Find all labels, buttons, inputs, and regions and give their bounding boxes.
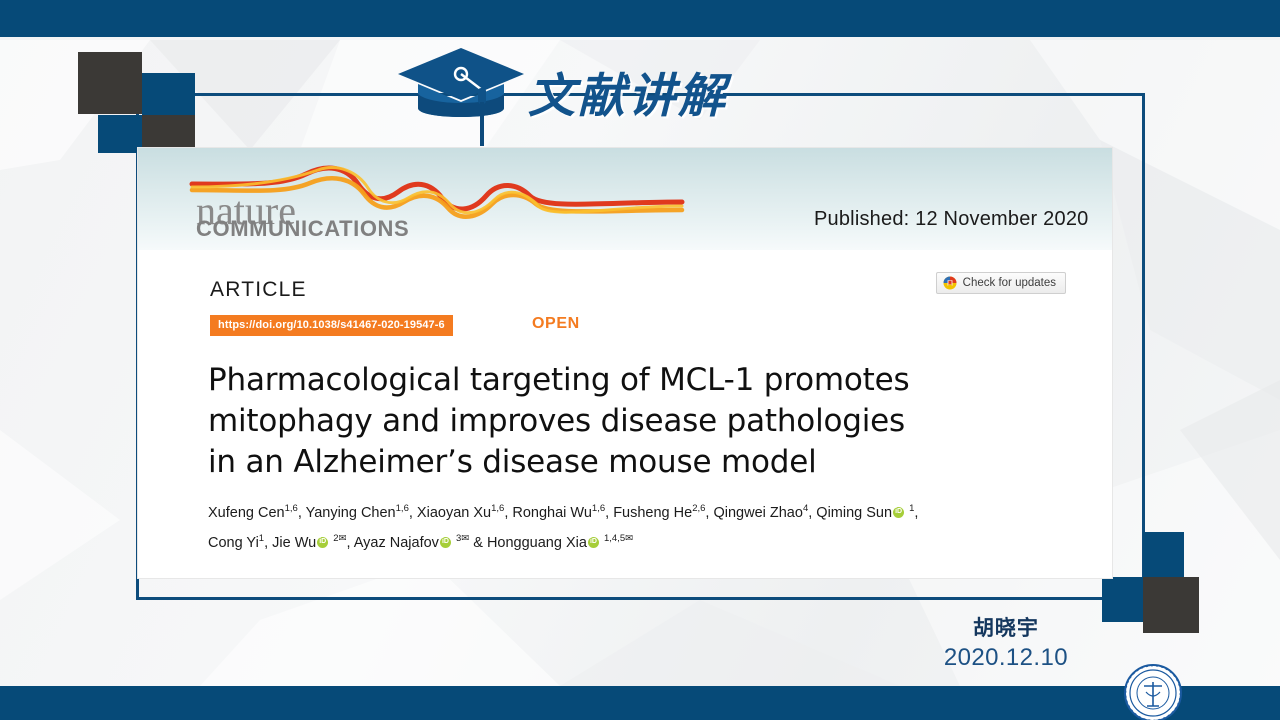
doi-link[interactable]: https://doi.org/10.1038/s41467-020-19547… <box>210 315 453 336</box>
published-date: Published: 12 November 2020 <box>814 208 1088 231</box>
author-name: Ayaz Najafov <box>354 535 439 551</box>
author-name: Jie Wu <box>272 535 316 551</box>
nature-communications-logo: nature COMMUNICATIONS <box>186 156 686 236</box>
author-list: Xufeng Cen1,6, Yanying Chen1,6, Xiaoyan … <box>208 496 1088 556</box>
author-name: Qingwei Zhao <box>713 505 802 521</box>
open-access-label: OPEN <box>532 315 580 333</box>
crossmark-icon <box>943 276 957 290</box>
bottom-accent-bar <box>0 686 1280 720</box>
article-title: Pharmacological targeting of MCL-1 promo… <box>208 360 1038 483</box>
author-affiliation-sup: 1,4,5✉ <box>604 533 633 544</box>
author-name: Yanying Chen <box>306 505 396 521</box>
check-for-updates-label: Check for updates <box>963 277 1056 289</box>
orcid-icon[interactable] <box>317 537 328 548</box>
article-title-line: mitophagy and improves disease pathologi… <box>208 401 1038 442</box>
author-name: Xufeng Cen <box>208 505 285 521</box>
author-affiliation-sup: 1,6 <box>396 503 409 514</box>
top-accent-bar <box>0 0 1280 37</box>
page-title: 文献讲解 <box>528 57 728 126</box>
presenter-name: 胡晓宇 <box>944 612 1068 642</box>
orcid-icon[interactable] <box>893 507 904 518</box>
author-affiliation-sup: 1 <box>259 533 264 544</box>
decor-square-dark-1 <box>78 52 142 114</box>
presentation-date: 2020.12.10 <box>944 644 1068 672</box>
paper-card: nature COMMUNICATIONS Published: 12 Nove… <box>138 148 1112 578</box>
author-affiliation-sup: 1 <box>909 503 914 514</box>
orcid-icon[interactable] <box>588 537 599 548</box>
author-affiliation-sup: 1,6 <box>592 503 605 514</box>
author-name: Ronghai Wu <box>512 505 592 521</box>
journal-masthead: nature COMMUNICATIONS Published: 12 Nove… <box>138 148 1112 250</box>
author-name: Xiaoyan Xu <box>417 505 491 521</box>
check-for-updates-button[interactable]: Check for updates <box>936 272 1066 294</box>
author-affiliation-sup: 1,6 <box>285 503 298 514</box>
orcid-icon[interactable] <box>440 537 451 548</box>
decor-square-blue-4 <box>1102 577 1143 622</box>
article-type-label: ARTICLE <box>210 278 307 302</box>
author-affiliation-sup: 4 <box>803 503 808 514</box>
decor-square-blue-3 <box>1143 532 1184 577</box>
presenter-block: 胡晓宇 2020.12.10 <box>944 612 1068 672</box>
author-name: Fusheng He <box>613 505 692 521</box>
decor-square-blue-1 <box>142 73 195 121</box>
graduation-cap-icon <box>396 42 526 152</box>
decor-square-dark-3 <box>1143 577 1199 633</box>
author-name: Hongguang Xia <box>487 535 587 551</box>
author-name: Cong Yi <box>208 535 259 551</box>
article-title-line: Pharmacological targeting of MCL-1 promo… <box>208 360 1038 401</box>
author-affiliation-sup: 2,6 <box>692 503 705 514</box>
university-seal-icon <box>1122 662 1184 720</box>
author-affiliation-sup: 3✉ <box>456 533 469 544</box>
author-name: Qiming Sun <box>816 505 892 521</box>
svg-text:COMMUNICATIONS: COMMUNICATIONS <box>196 216 409 236</box>
author-affiliation-sup: 2✉ <box>333 533 346 544</box>
article-title-line: in an Alzheimer’s disease mouse model <box>208 442 1038 483</box>
author-affiliation-sup: 1,6 <box>491 503 504 514</box>
decor-square-blue-2 <box>98 115 142 153</box>
